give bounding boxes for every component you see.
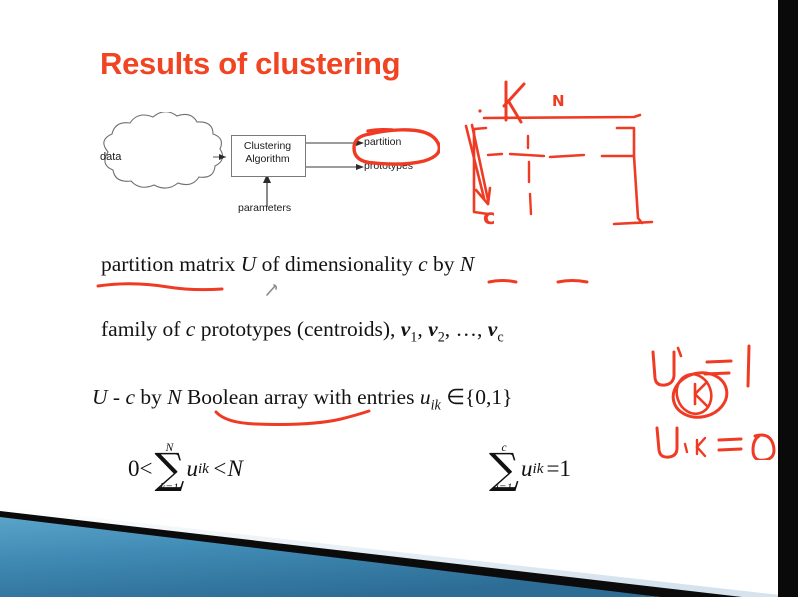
f2-term-sub: ik: [532, 460, 543, 478]
f1-term-sub: ik: [198, 460, 209, 478]
f1-suffix: <N: [212, 456, 243, 482]
l2-var-c: c: [186, 317, 196, 341]
l3-var-uik: u: [420, 385, 431, 409]
text-line-boolean-array: U - c by N Boolean array with entries ui…: [92, 385, 512, 414]
l3-var-c: c: [125, 385, 135, 409]
l1-part3: by: [428, 252, 460, 276]
ink-label-c: c: [483, 205, 495, 229]
gray-tick-mark-icon: [264, 283, 280, 299]
l3-part4: ∈{0,1}: [441, 385, 513, 409]
l1-part1: partition matrix: [101, 252, 241, 276]
l2-sep1: ,: [417, 317, 428, 341]
l1-var-c: c: [418, 252, 428, 276]
algo-label-line2: Algorithm: [245, 153, 289, 165]
f2-term: u: [521, 456, 533, 482]
ink-equations-sketch: [645, 340, 795, 460]
l1-var-n: N: [460, 252, 474, 276]
f2-suffix: =1: [546, 456, 570, 482]
l2-part2: prototypes (centroids),: [195, 317, 400, 341]
l2-sep2: , …,: [445, 317, 488, 341]
l3-part3: Boolean array with entries: [182, 385, 420, 409]
page-title: Results of clustering: [100, 46, 400, 82]
l1-var-u: U: [241, 252, 257, 276]
algo-label-line1: Clustering: [244, 140, 291, 152]
f1-term: u: [186, 456, 198, 482]
ink-underline-partition-matrix: [95, 278, 225, 294]
l2-part1: family of: [101, 317, 186, 341]
data-cloud-shape: [104, 112, 223, 188]
slide-bottom-decoration: [0, 487, 780, 597]
l3-part1: -: [108, 385, 126, 409]
slide-right-border: [778, 0, 798, 597]
l2-v3-sub: c: [497, 329, 503, 345]
output-partition-label: partition: [364, 136, 401, 148]
l2-v1: v: [401, 317, 411, 341]
slide-canvas: Results of clustering data Clustering Al…: [0, 0, 798, 597]
l2-v2-sub: 2: [438, 329, 445, 345]
text-line-partition-matrix: partition matrix U of dimensionality c b…: [101, 252, 474, 277]
f1-prefix: 0<: [128, 456, 152, 482]
l3-uik-sub: ik: [431, 397, 441, 413]
input-parameters-label: parameters: [238, 202, 291, 214]
clustering-algorithm-label: Clustering Algorithm: [231, 140, 304, 166]
l3-var-u: U: [92, 385, 108, 409]
data-cloud-label: data: [100, 151, 121, 163]
l3-var-n: N: [167, 385, 181, 409]
text-line-family-prototypes: family of c prototypes (centroids), v1, …: [101, 317, 504, 346]
sigma-icon: ∑: [489, 453, 519, 486]
l3-part2: by: [135, 385, 167, 409]
sigma-icon: ∑: [154, 453, 184, 486]
output-prototypes-label: prototypes: [364, 160, 413, 172]
bottom-decoration-svg: [0, 487, 780, 597]
ink-underline-c: [487, 276, 519, 290]
ink-underline-n: [556, 276, 590, 290]
l2-v3: v: [488, 317, 498, 341]
l2-v2: v: [428, 317, 438, 341]
ink-label-n: N: [552, 92, 565, 110]
l1-part2: of dimensionality: [256, 252, 418, 276]
